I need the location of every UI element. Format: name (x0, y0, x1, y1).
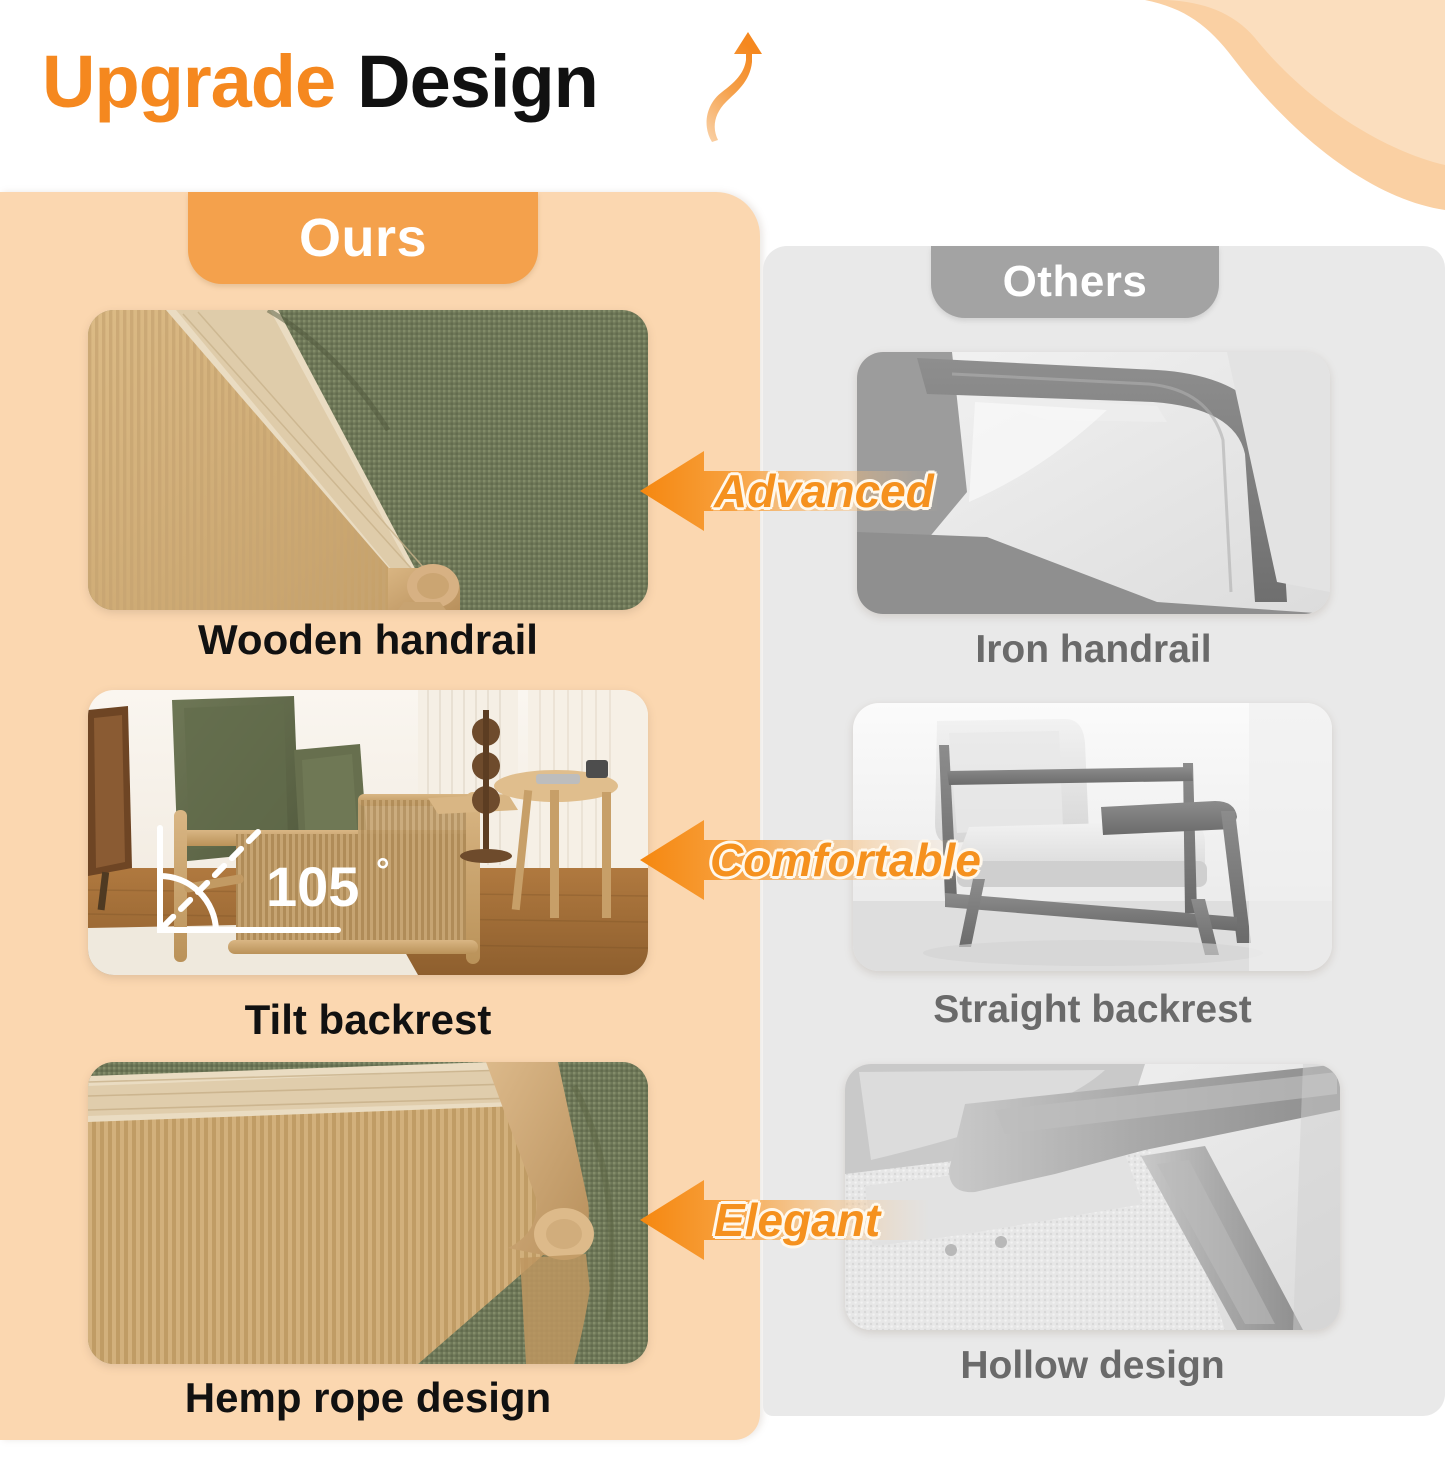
corner-decoration (1145, 0, 1445, 210)
ours-image-row-3 (88, 1062, 648, 1364)
ours-caption-row-1: Wooden handrail (88, 616, 648, 664)
badge-others-label: Others (1003, 257, 1148, 307)
title-word-design: Design (357, 45, 598, 119)
badge-others: Others (931, 246, 1219, 318)
others-caption-row-2: Straight backrest (853, 988, 1332, 1032)
angle-annotation-text: 105 (266, 855, 359, 918)
badge-ours-label: Ours (299, 207, 427, 269)
ours-image-row-2: 105 ° (88, 690, 648, 975)
title-word-upgrade: Upgrade (42, 45, 335, 119)
arrow-label-advanced: Advanced (714, 443, 934, 539)
arrow-label-elegant: Elegant (714, 1172, 880, 1268)
badge-ours: Ours (188, 192, 538, 284)
page-title: Upgrade Design (42, 45, 598, 119)
arrow-banner-elegant: Elegant (640, 1172, 930, 1268)
svg-text:°: ° (376, 852, 390, 890)
others-caption-row-3: Hollow design (845, 1344, 1340, 1388)
ours-image-row-1 (88, 310, 648, 610)
arrow-label-comfortable: Comfortable (710, 812, 981, 908)
curved-up-arrow-icon (700, 30, 770, 145)
ours-caption-row-2: Tilt backrest (88, 996, 648, 1044)
arrow-banner-comfortable: Comfortable (640, 812, 970, 908)
others-caption-row-1: Iron handrail (857, 628, 1330, 672)
ours-caption-row-3: Hemp rope design (88, 1374, 648, 1422)
arrow-banner-advanced: Advanced (640, 443, 940, 539)
